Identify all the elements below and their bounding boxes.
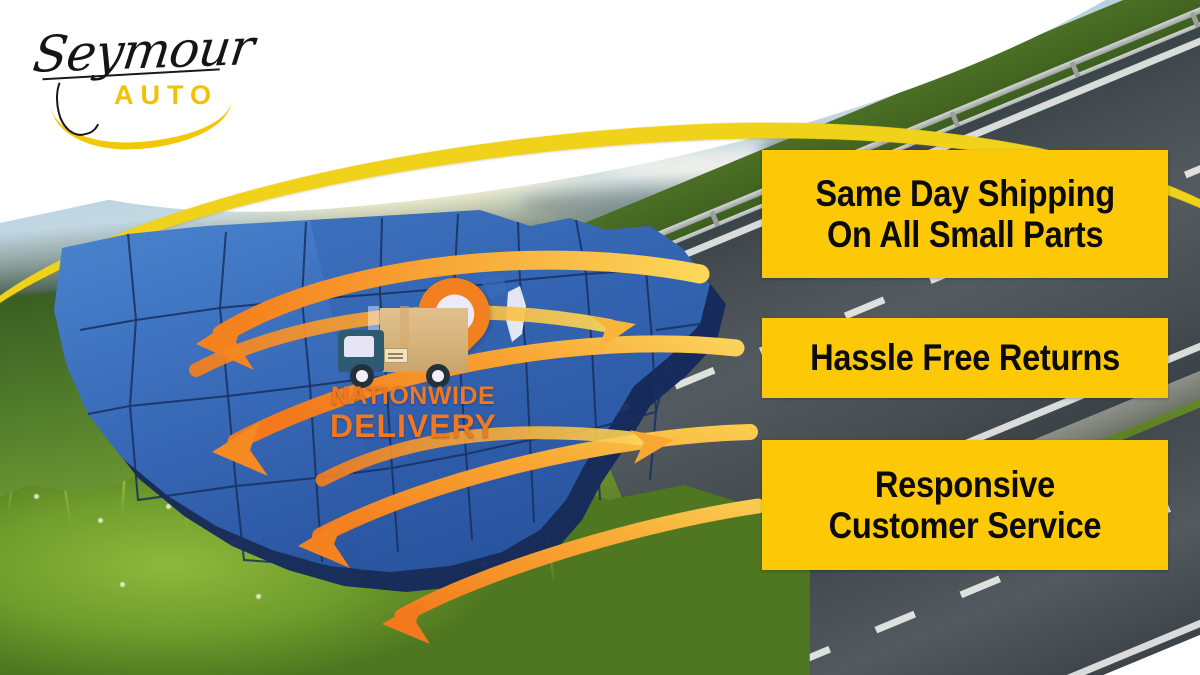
- feature-box-same-day-shipping[interactable]: Same Day Shipping On All Small Parts: [762, 150, 1168, 278]
- badge-line-2: DELIVERY: [330, 410, 496, 443]
- delivery-truck-icon: [338, 306, 470, 388]
- seymour-auto-logo[interactable]: Seymour AUTO: [28, 18, 258, 128]
- promo-banner: Seymour AUTO: [0, 0, 1200, 675]
- logo-script-name: Seymour: [30, 18, 257, 84]
- feature-box-responsive-customer-service[interactable]: Responsive Customer Service: [762, 440, 1168, 570]
- feature-text: Responsive Customer Service: [829, 464, 1102, 547]
- nationwide-delivery-badge: NATIONWIDE DELIVERY: [330, 276, 500, 451]
- badge-line-1: NATIONWIDE: [330, 384, 496, 410]
- badge-caption: NATIONWIDE DELIVERY: [330, 384, 496, 442]
- feature-box-hassle-free-returns[interactable]: Hassle Free Returns: [762, 318, 1168, 398]
- feature-text: Hassle Free Returns: [810, 337, 1120, 378]
- feature-text: Same Day Shipping On All Small Parts: [815, 173, 1114, 256]
- logo-sub-name: AUTO: [114, 80, 218, 111]
